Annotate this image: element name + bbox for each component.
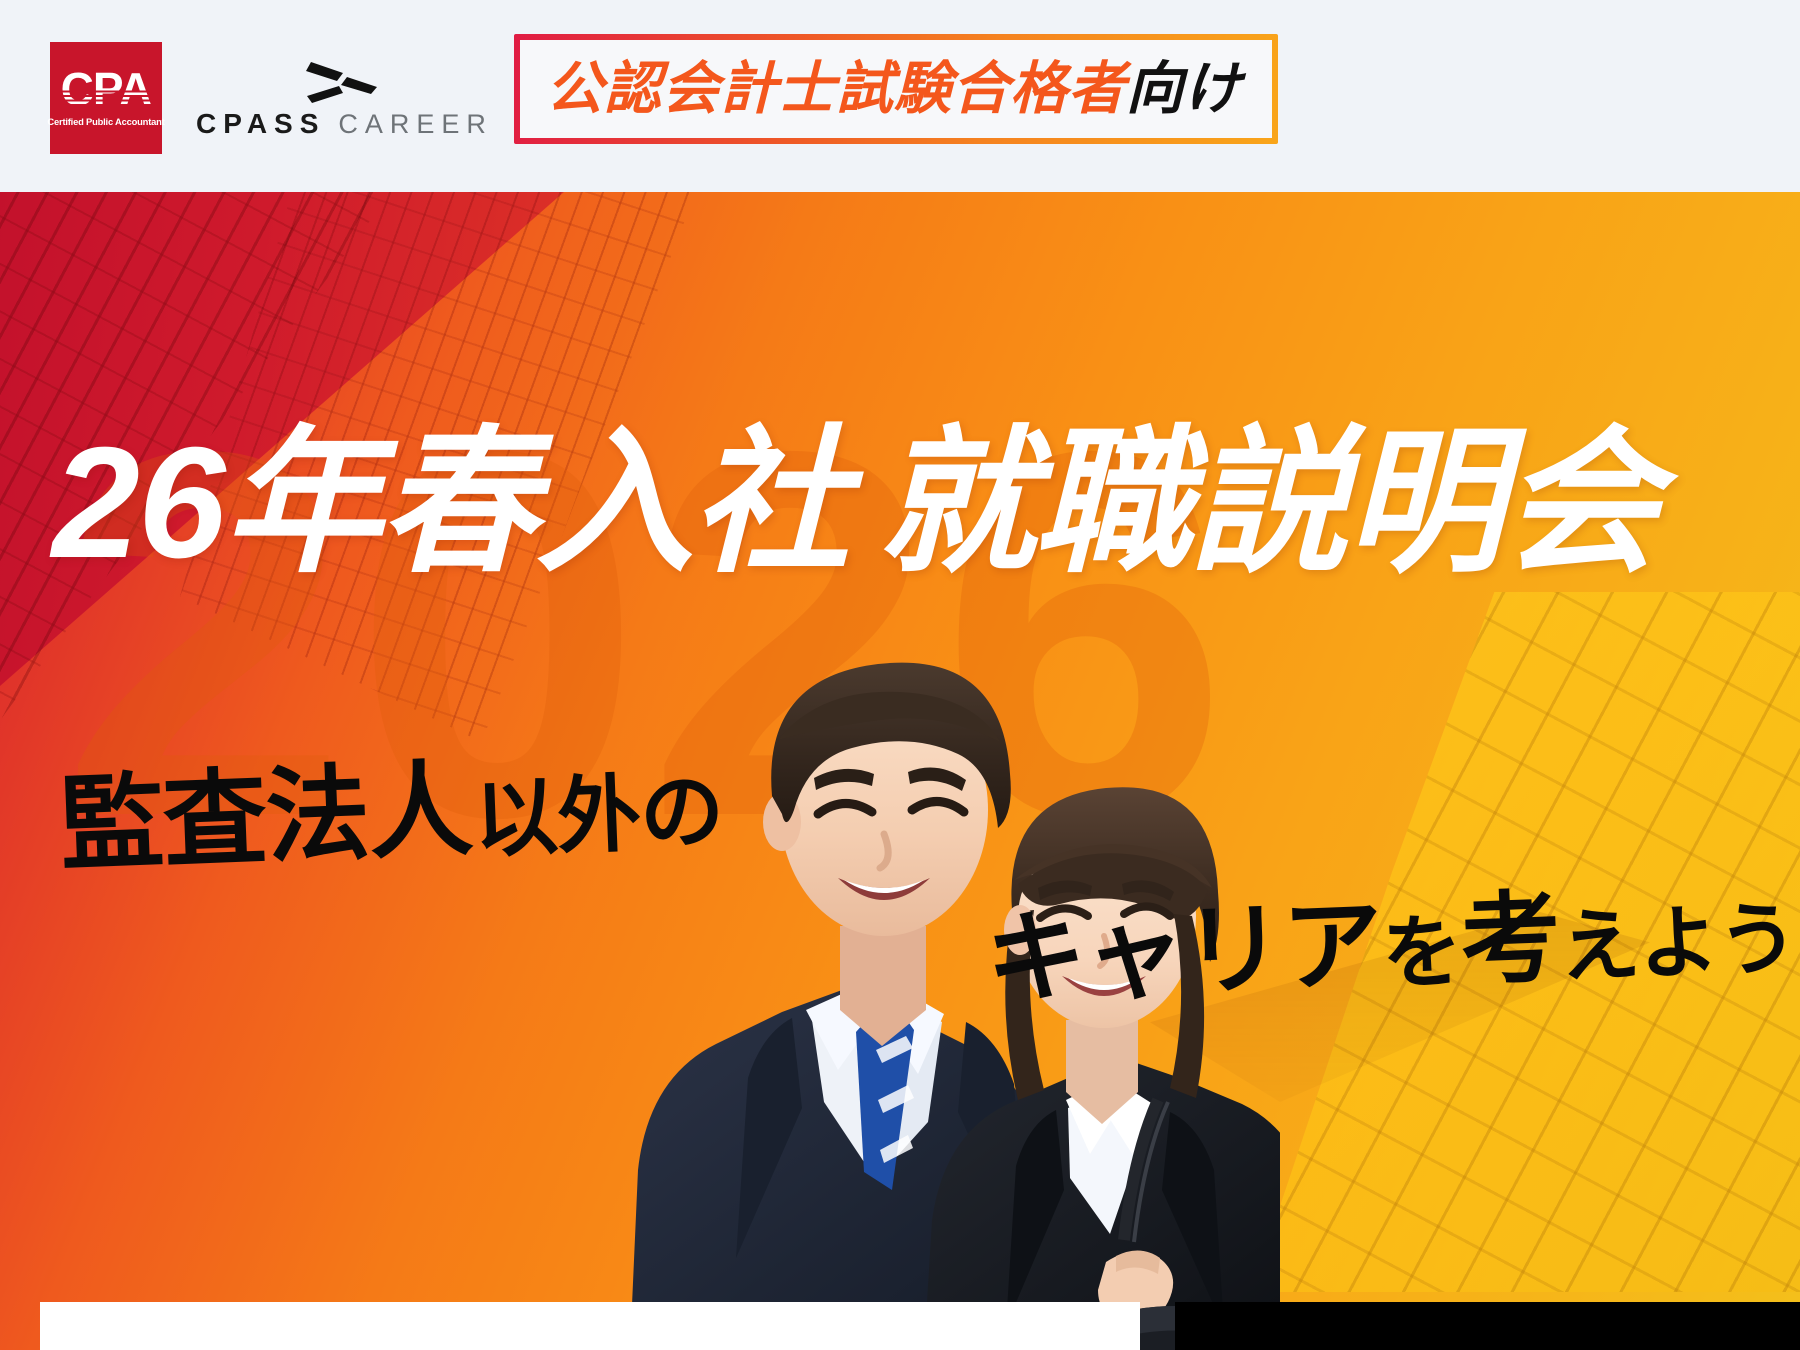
subtitle-right-tail-a: を <box>1381 912 1463 995</box>
target-audience-badge: 公認会計士試験合格者向け <box>514 34 1278 144</box>
main-headline: 26年春入社就職説明会 <box>52 424 1752 582</box>
cpa-logo-icon: CPA Certified Public Accountant <box>50 42 162 154</box>
event-date-bar: 2025.11.24 Mon 19:00 - 21:30 <box>40 1302 1140 1350</box>
cpa-logo-text: CPA <box>61 68 152 110</box>
badge-text-suffix: 向け <box>1126 57 1242 121</box>
event-date: 2025.11.24 <box>102 1345 488 1350</box>
badge-text-primary: 公認会計士試験合格者 <box>546 57 1126 121</box>
subtitle-left: 監査法人以外の <box>58 749 725 878</box>
subtitle-right-emphasis: キャリア <box>984 895 1384 1010</box>
headline-part1: 26年春入社 <box>52 415 848 591</box>
cpass-wordmark: CPASS <box>196 108 325 140</box>
banner-header: CPA Certified Public Accountant CPASS CA… <box>0 0 1800 192</box>
cpass-arrow-icon <box>285 60 403 104</box>
hero-section: 2026 <box>0 192 1800 1350</box>
subtitle-right-tail-b: えよう <box>1559 899 1799 988</box>
cpa-logo-subtitle: Certified Public Accountant <box>47 116 164 127</box>
event-venue-bar: CPASSラウンジ <box>1175 1302 1800 1350</box>
headline-part2: 就職説明会 <box>878 415 1658 591</box>
subtitle-right-emphasis-b: 考 <box>1459 888 1562 992</box>
career-wordmark: CAREER <box>338 109 493 140</box>
cpass-career-logo: CPASS CAREER <box>196 60 493 140</box>
logo-group: CPA Certified Public Accountant CPASS CA… <box>50 42 493 154</box>
subtitle-left-tail: 以外の <box>472 769 724 862</box>
event-banner: CPA Certified Public Accountant CPASS CA… <box>0 0 1800 1350</box>
subtitle-left-emphasis: 監査法人 <box>58 758 474 878</box>
